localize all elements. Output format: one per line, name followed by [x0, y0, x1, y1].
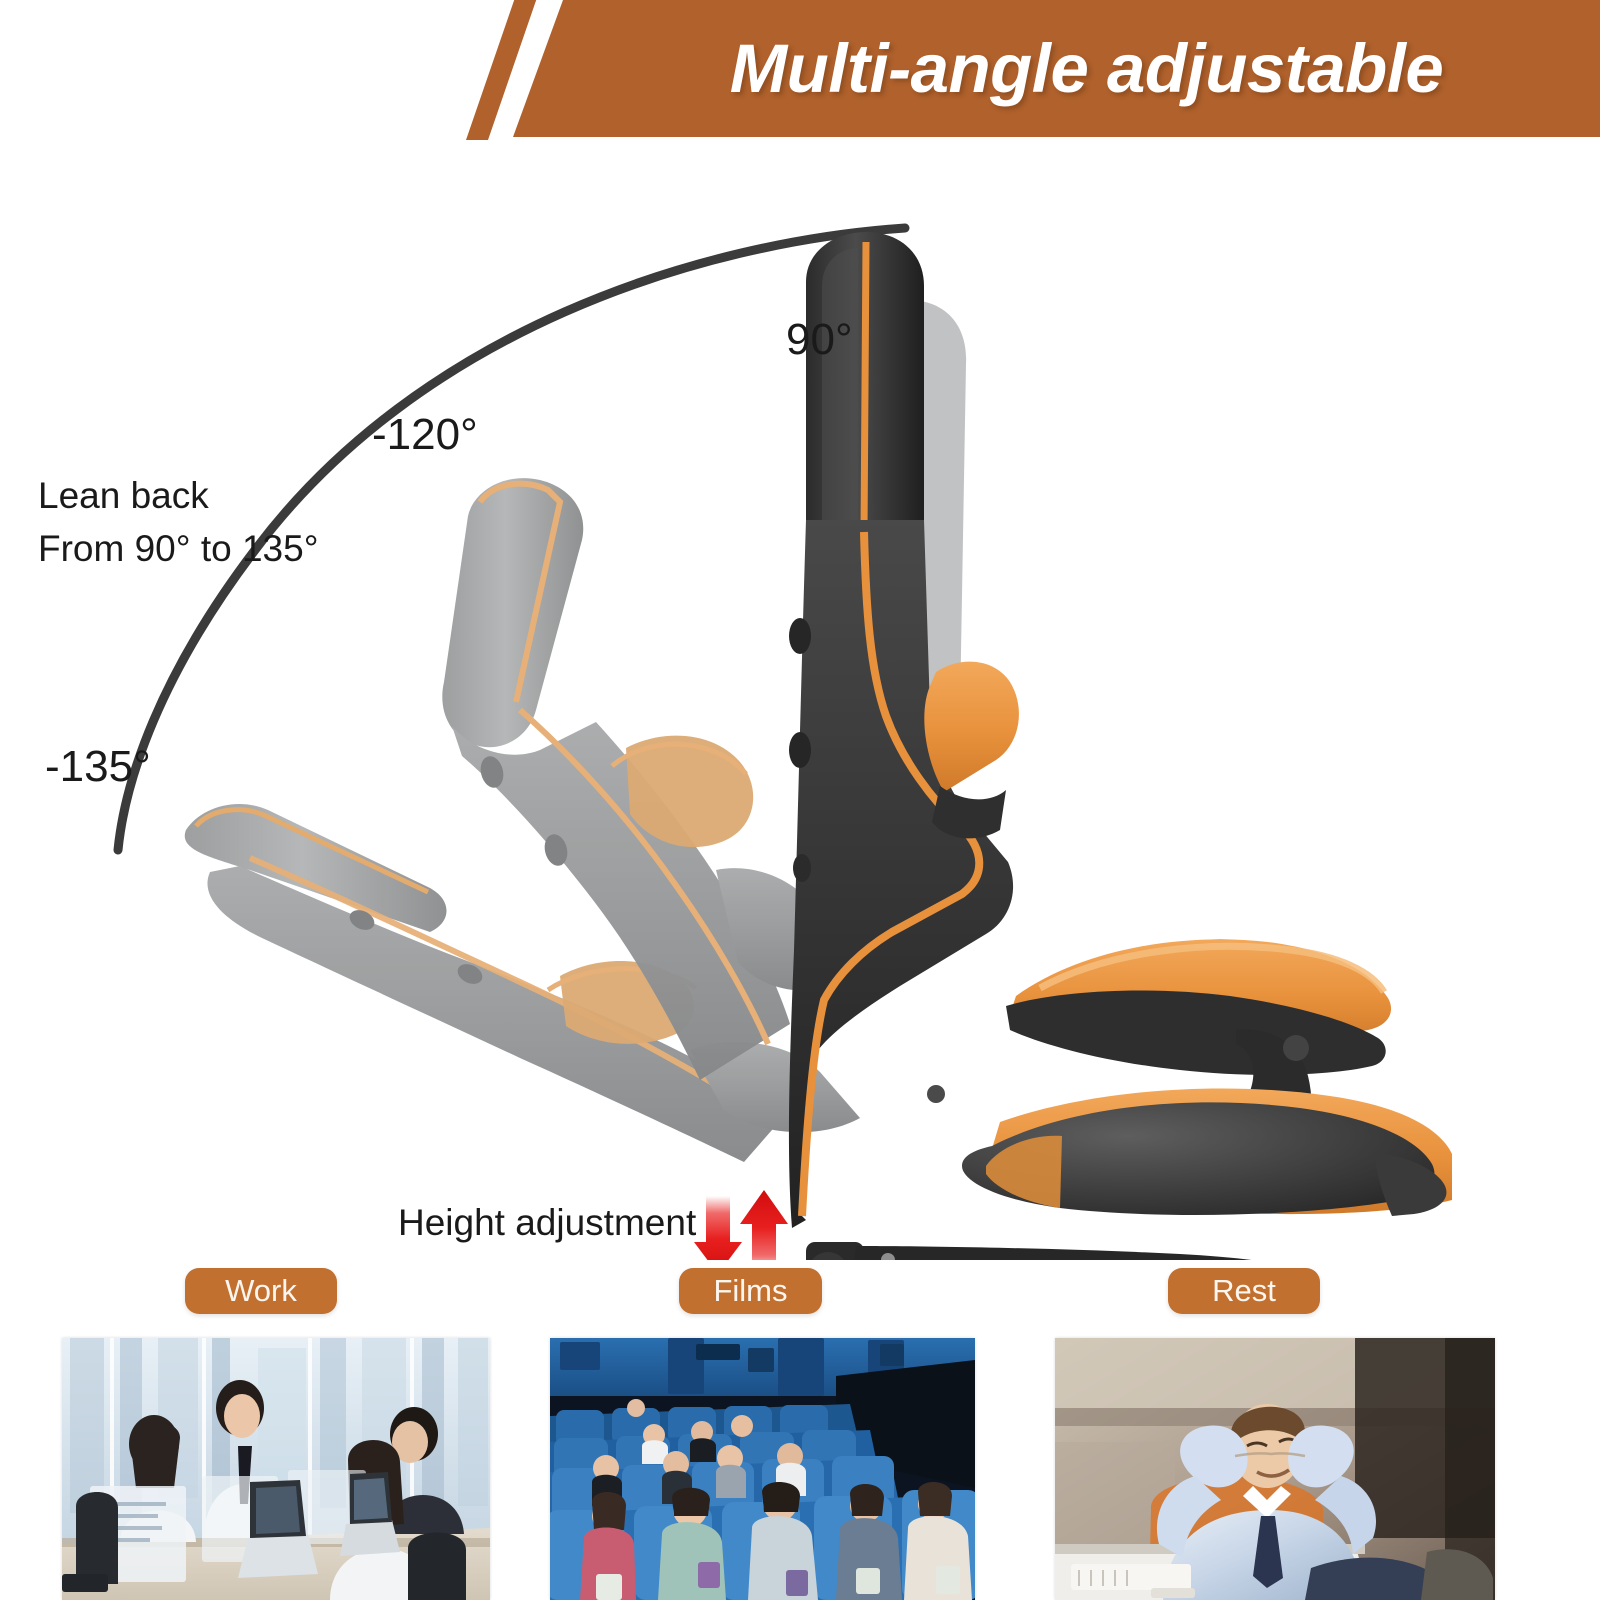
chair-recline-diagram: 90° -120° -135° Lean back From 90° to 13… — [0, 150, 1600, 1260]
seat-mechanism-plate — [852, 1246, 1300, 1260]
arrow-down-icon — [694, 1196, 742, 1260]
banner-title-wrap: Multi-angle adjustable — [513, 0, 1600, 137]
lumbar-wing-panel — [924, 662, 1019, 792]
infographic-page: Multi-angle adjustable — [0, 0, 1600, 1600]
photo-office-work — [62, 1338, 490, 1600]
lean-back-range: From 90° to 135° — [38, 528, 319, 570]
use-case-label-films: Films — [679, 1268, 822, 1314]
height-adjustment-label: Height adjustment — [398, 1202, 696, 1244]
backrest-stud-upper — [789, 618, 811, 654]
photo-cinema-audience — [550, 1338, 975, 1600]
chair-main-90 — [789, 232, 1452, 1260]
angle-label-90: 90° — [786, 315, 853, 365]
photo-man-resting — [1055, 1338, 1495, 1600]
armrest-pivot-bolt — [1283, 1035, 1309, 1061]
header-banner: Multi-angle adjustable — [0, 0, 1600, 150]
angle-label-120: -120° — [372, 410, 478, 460]
use-case-label-work: Work — [185, 1268, 337, 1314]
lean-back-title: Lean back — [38, 475, 209, 517]
arrow-up-icon — [740, 1190, 788, 1260]
angle-label-135: -135° — [45, 742, 151, 792]
use-case-strip: Work — [0, 1260, 1600, 1600]
backrest-bolt — [927, 1085, 945, 1103]
page-title: Multi-angle adjustable — [730, 29, 1444, 108]
backrest-stud-base — [793, 854, 811, 882]
backrest-stud-lower — [789, 732, 811, 768]
height-adjust-arrows — [694, 1190, 788, 1260]
use-case-label-rest: Rest — [1168, 1268, 1320, 1314]
